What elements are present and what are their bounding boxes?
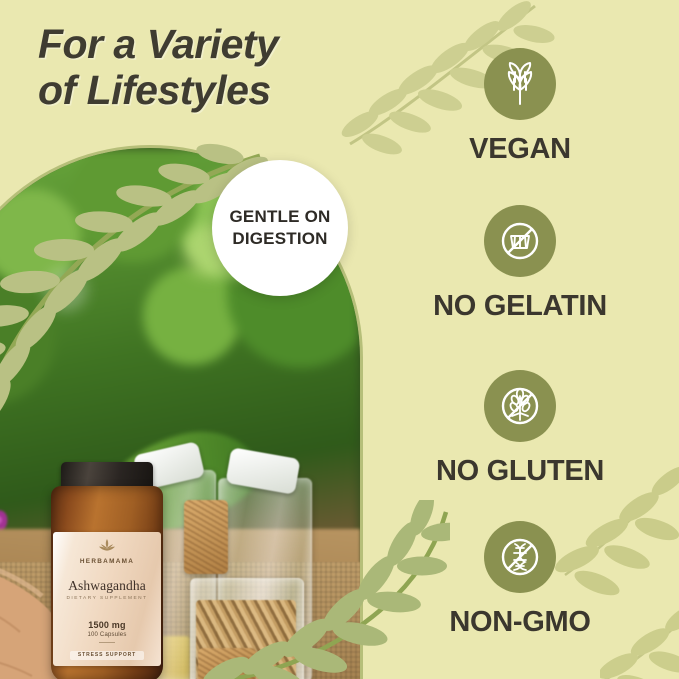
product-count: 100 Capsules bbox=[53, 632, 161, 638]
no-wheat-icon bbox=[496, 382, 544, 430]
leaves-icon bbox=[496, 60, 544, 108]
cork-stopper-2 bbox=[198, 648, 256, 679]
product-support-claim: STRESS SUPPORT bbox=[70, 651, 144, 660]
claim-label: VEGAN bbox=[370, 133, 670, 166]
claim-badge-non-gmo: NON-GMO bbox=[370, 521, 670, 639]
product-name: Ashwagandha bbox=[53, 578, 161, 594]
claim-label: NON-GMO bbox=[370, 606, 670, 639]
headline-line-1: For a Variety bbox=[38, 22, 368, 68]
no-dna-icon bbox=[496, 533, 544, 581]
product-subtitle: DIETARY SUPPLEMENT bbox=[53, 596, 161, 601]
gentle-on-digestion-badge: GENTLE ON DIGESTION bbox=[212, 160, 348, 296]
claim-label: NO GELATIN bbox=[370, 290, 670, 323]
brand-name: HERBAMAMA bbox=[53, 558, 161, 565]
herbamama-logo-icon bbox=[97, 539, 117, 552]
product-dose: 1500 mg bbox=[53, 620, 161, 630]
claim-icon-circle bbox=[484, 48, 556, 120]
cork-stopper-1 bbox=[184, 500, 228, 574]
claim-badge-no-gluten: NO GLUTEN bbox=[370, 370, 670, 488]
claim-icon-circle bbox=[484, 370, 556, 442]
label-divider bbox=[99, 642, 115, 643]
page-title: For a Variety of Lifestyles bbox=[38, 22, 368, 114]
claim-label: NO GLUTEN bbox=[370, 455, 670, 488]
no-gelatin-icon bbox=[496, 217, 544, 265]
gentle-badge-line-2: DIGESTION bbox=[232, 228, 327, 250]
claim-badge-vegan: VEGAN bbox=[370, 48, 670, 166]
supplement-bottle: HERBAMAMA Ashwagandha DIETARY SUPPLEMENT… bbox=[43, 460, 171, 679]
claim-badge-no-gelatin: NO GELATIN bbox=[370, 205, 670, 323]
headline-line-2: of Lifestyles bbox=[38, 68, 368, 114]
promo-image: For a Variety of Lifestyles bbox=[0, 0, 679, 679]
bottle-label: HERBAMAMA Ashwagandha DIETARY SUPPLEMENT… bbox=[53, 532, 161, 666]
claim-icon-circle bbox=[484, 521, 556, 593]
claim-icon-circle bbox=[484, 205, 556, 277]
gentle-badge-line-1: GENTLE ON bbox=[230, 206, 331, 228]
